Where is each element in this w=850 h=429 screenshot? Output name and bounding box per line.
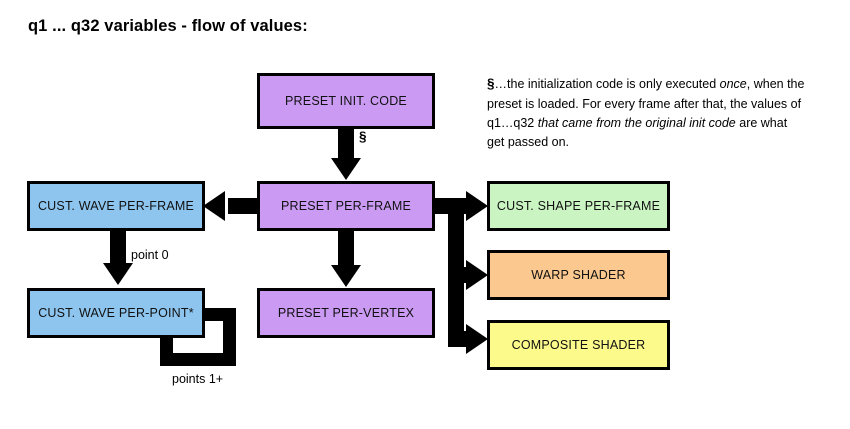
node-label-cust-shape-per-frame: CUST. SHAPE PER-FRAME bbox=[497, 199, 660, 213]
section-marker-icon: § bbox=[487, 76, 495, 91]
node-label-cust-wave-per-frame: CUST. WAVE PER-FRAME bbox=[38, 199, 194, 213]
node-label-preset-per-frame: PRESET PER-FRAME bbox=[281, 199, 411, 213]
connector-branch-warp-arrowhead bbox=[466, 260, 488, 290]
node-label-warp-shader: WARP SHADER bbox=[531, 268, 626, 282]
footnote-note: §…the initialization code is only execut… bbox=[487, 74, 807, 152]
node-label-preset-init-code: PRESET INIT. CODE bbox=[285, 94, 407, 108]
connector-wavepf-to-wavepp-stem bbox=[110, 231, 126, 264]
connector-perframe-to-wavepf-arrowhead bbox=[203, 191, 225, 221]
connector-perframe-to-wavepf-stem bbox=[228, 198, 260, 214]
edge-label-section-marker: § bbox=[359, 129, 367, 144]
connector-wavepf-to-wavepp-arrowhead bbox=[103, 263, 133, 285]
edge-label-point-0: point 0 bbox=[131, 248, 169, 262]
edge-label-points-1-plus: points 1+ bbox=[172, 372, 223, 386]
connector-perframe-to-pervertex-arrowhead bbox=[331, 265, 361, 287]
page-title: q1 ... q32 variables - flow of values: bbox=[28, 17, 308, 36]
node-cust-wave-per-frame[interactable]: CUST. WAVE PER-FRAME bbox=[27, 181, 205, 231]
connector-branch-shape-arrowhead bbox=[466, 191, 488, 221]
connector-init-to-perframe-arrowhead bbox=[331, 158, 361, 180]
note-text-4-italic: that came from the original init code bbox=[538, 116, 736, 130]
node-cust-shape-per-frame[interactable]: CUST. SHAPE PER-FRAME bbox=[487, 181, 670, 231]
node-label-composite-shader: COMPOSITE SHADER bbox=[512, 338, 646, 352]
connector-perframe-to-pervertex-stem bbox=[338, 231, 354, 266]
node-preset-init-code[interactable]: PRESET INIT. CODE bbox=[257, 73, 435, 129]
connector-init-to-perframe-stem bbox=[338, 129, 354, 160]
diagram-canvas: q1 ... q32 variables - flow of values: §… bbox=[0, 0, 850, 429]
connector-wavepp-loop-left bbox=[160, 336, 173, 360]
connector-branch-composite-arrowhead bbox=[466, 324, 488, 354]
note-text-2-italic: once bbox=[720, 77, 747, 91]
node-label-cust-wave-per-point: CUST. WAVE PER-POINT* bbox=[38, 306, 194, 320]
node-cust-wave-per-point[interactable]: CUST. WAVE PER-POINT* bbox=[27, 288, 205, 338]
node-composite-shader[interactable]: COMPOSITE SHADER bbox=[487, 320, 670, 370]
node-preset-per-frame[interactable]: PRESET PER-FRAME bbox=[257, 181, 435, 231]
node-preset-per-vertex[interactable]: PRESET PER-VERTEX bbox=[257, 288, 435, 338]
node-warp-shader[interactable]: WARP SHADER bbox=[487, 250, 670, 300]
note-text-1: …the initialization code is only execute… bbox=[495, 77, 720, 91]
node-label-preset-per-vertex: PRESET PER-VERTEX bbox=[278, 306, 414, 320]
